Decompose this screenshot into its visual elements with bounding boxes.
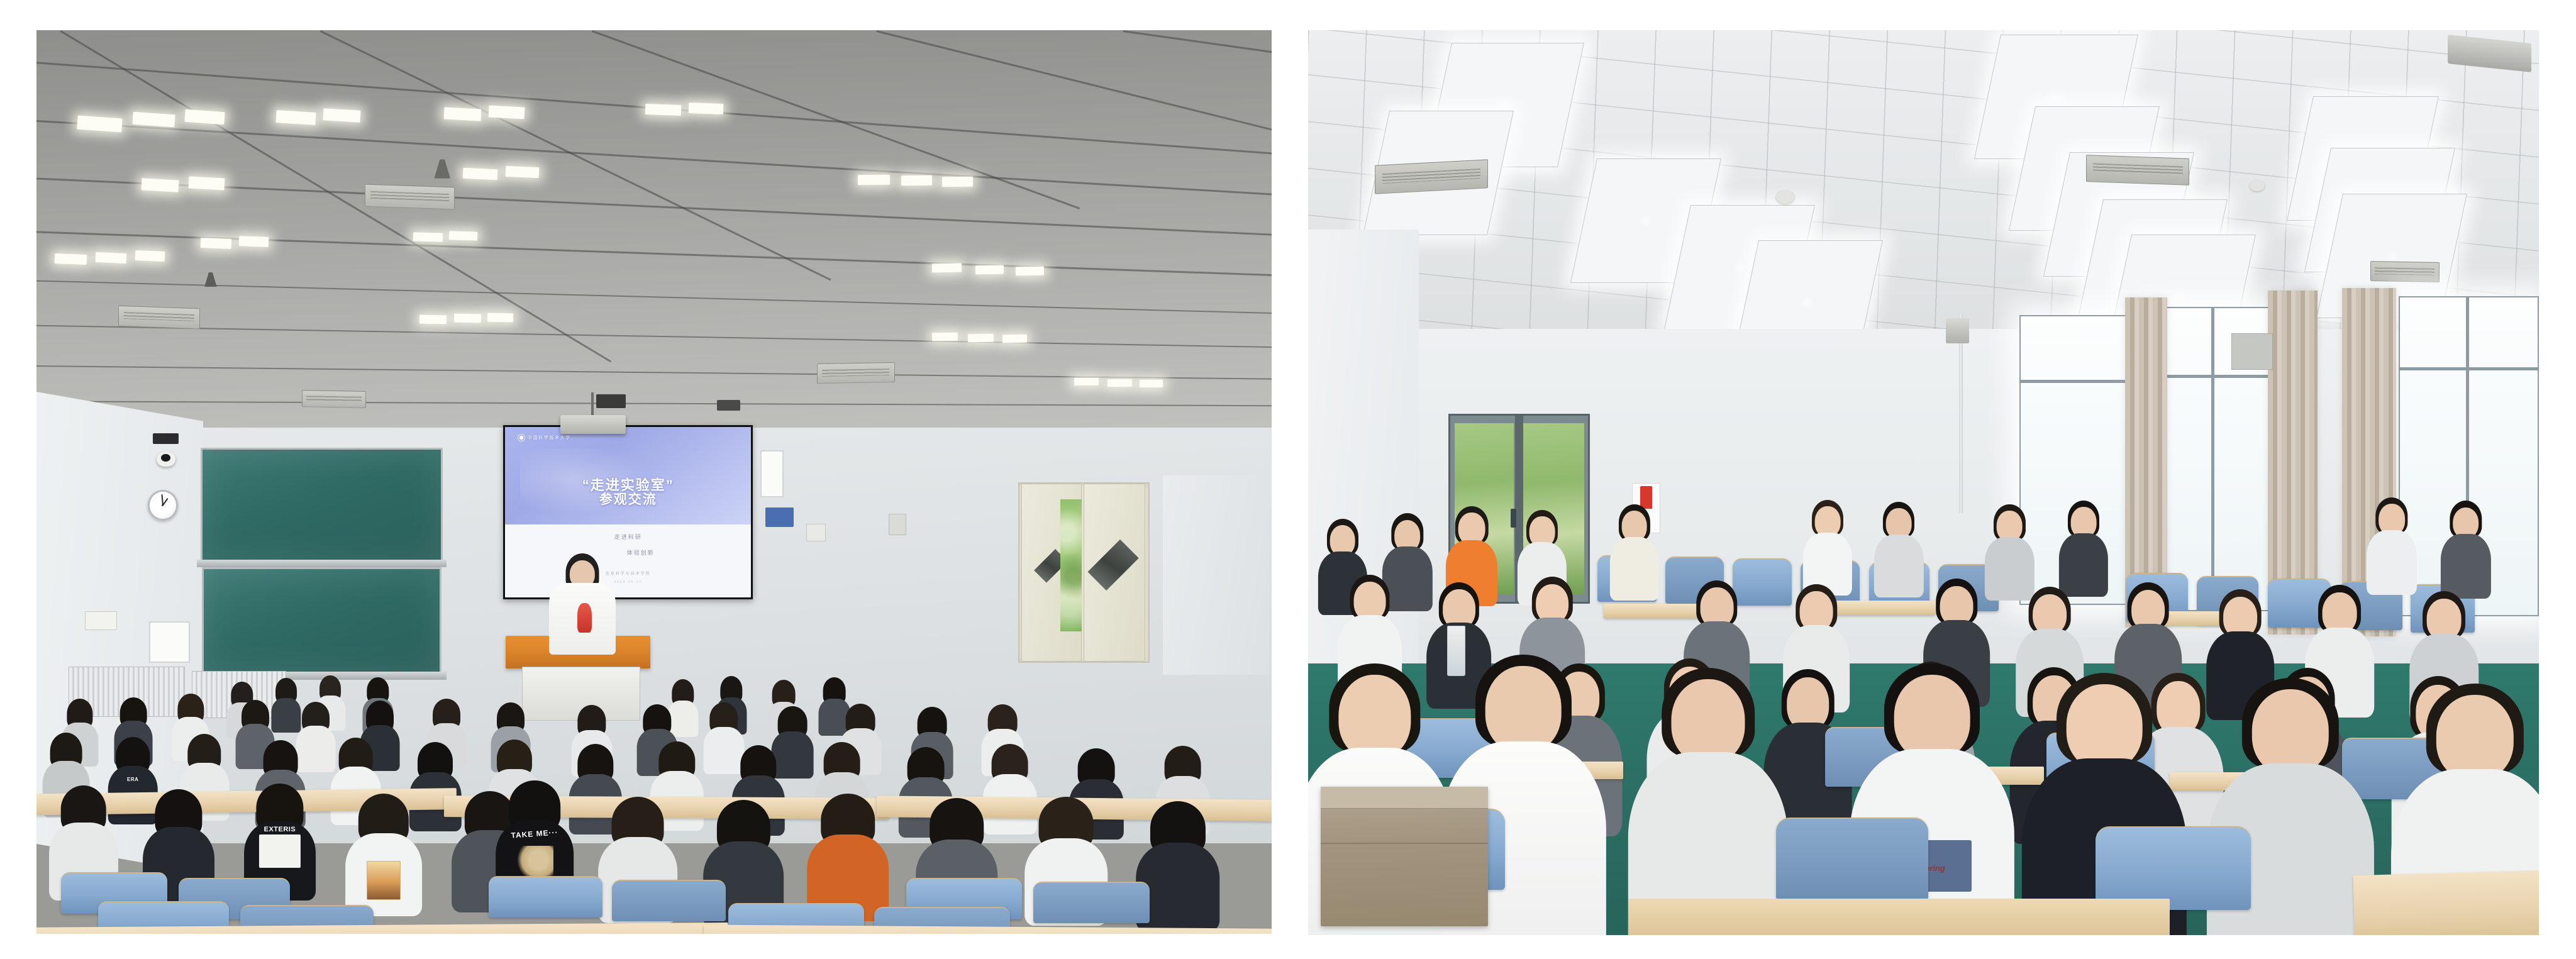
wall-conduit-pipe (1959, 314, 1963, 514)
ceiling-light (413, 232, 443, 242)
ceiling-light (239, 236, 269, 247)
box-seam (1321, 843, 1488, 844)
university-crest-icon (518, 434, 525, 441)
ceiling-light (506, 166, 540, 179)
presenter-shirt-graphic (577, 603, 592, 633)
ceiling-light (449, 231, 478, 241)
projection-screen: 中国科学技术大学 “走进实验室” 参观交流 走进科研 体验创新 信息科学与技术学… (503, 425, 753, 599)
shirt-print-panel (367, 861, 401, 901)
ceiling-ac-vent (817, 362, 895, 384)
ceiling-light (1074, 378, 1099, 386)
ceiling-ac-vent (2086, 155, 2189, 186)
ceiling-light (184, 109, 225, 125)
ceiling-light (645, 104, 682, 116)
slide-footer-line-2: 2024.06.27 (505, 580, 751, 584)
box-flap (1321, 787, 1488, 809)
slide-logo-row: 中国科学技术大学 (518, 434, 571, 441)
ceiling-light (487, 313, 513, 321)
ceiling-light (201, 238, 232, 249)
wall-mounted-panel (2231, 333, 2273, 370)
projector-cable-block (596, 394, 626, 408)
slide-header-band (505, 427, 751, 524)
photo-collage-stage: 中国科学技术大学 “走进实验室” 参观交流 走进科研 体验创新 信息科学与技术学… (0, 0, 2576, 959)
audience-person (1874, 502, 1923, 592)
clock-center-pin (162, 504, 164, 506)
ceiling-light (858, 175, 890, 185)
audience-person (1985, 504, 2034, 595)
smoke-detector-icon (1776, 191, 1794, 204)
window-mullion-horizontal (2154, 375, 2280, 378)
slide-organization-text: 中国科学技术大学 (528, 435, 571, 441)
lecture-chair (2096, 826, 2251, 909)
ceiling-ac-vent (302, 390, 366, 408)
audience-person (1609, 504, 1658, 595)
person-head (1485, 666, 1562, 753)
ceiling-light (135, 250, 165, 262)
window-mullion-horizontal (2400, 367, 2538, 370)
person-torso (1874, 535, 1923, 598)
wall-clock (148, 490, 178, 520)
ceiling-light (942, 177, 973, 187)
ceiling-light (55, 253, 87, 265)
ceiling-equipment-box (717, 400, 740, 411)
ceiling-light (96, 252, 127, 263)
ceiling-ac-vent (365, 184, 455, 210)
slide-subtitle-line-1: 走进科研 (505, 533, 751, 541)
ceiling-light (444, 107, 482, 121)
photo-left-lecture-hall-front-view: 中国科学技术大学 “走进实验室” 参观交流 走进科研 体验创新 信息科学与技术学… (36, 30, 1272, 934)
ceiling-light (1002, 335, 1027, 343)
audience-person (2367, 497, 2417, 590)
ceiling-light (932, 263, 962, 272)
ceiling-light (901, 175, 932, 186)
audience-person (1803, 500, 1852, 590)
wall-outlet-plate (806, 524, 826, 542)
slide-title-line-1: “走进实验室” (505, 478, 751, 493)
window-mullion-vertical (2211, 308, 2214, 610)
slide-footer-line-1: 信息科学与技术学院 (505, 570, 751, 576)
wall-paper-notice (149, 621, 190, 663)
photo-right-lecture-hall-audience-view: Spring (1308, 30, 2539, 935)
light-switch-plate (85, 611, 117, 630)
slide-subtitle-line-2: 体验创新 (505, 548, 751, 557)
projected-slide: 中国科学技术大学 “走进实验室” 参观交流 走进科研 体验创新 信息科学与技术学… (505, 427, 751, 597)
chalkboard-rail (197, 560, 447, 567)
ceiling-light (689, 103, 724, 114)
foreground-desk (1628, 899, 2170, 935)
shirt-print-text: EXTERIS (264, 826, 296, 833)
chalkboard-lower-panel (202, 567, 441, 675)
shirt-print-panel (259, 834, 301, 868)
ceiling-light (419, 314, 447, 323)
person-torso (2440, 534, 2490, 599)
classroom-double-door (1018, 482, 1149, 663)
window-mullion-horizontal (2021, 380, 2136, 383)
wall-control-panel (889, 514, 906, 535)
lecture-chair (612, 880, 726, 921)
ceiling-light (462, 168, 497, 180)
cardboard-box (1321, 787, 1488, 926)
wall-speaker (1946, 318, 1969, 343)
wall-right-of-door (1163, 475, 1269, 674)
person-head (1894, 675, 1970, 760)
audience-person (808, 794, 889, 914)
presenter (549, 553, 616, 653)
ceiling-light (1016, 267, 1044, 276)
ceiling-light (975, 265, 1004, 274)
camera-mount-bracket (153, 433, 179, 444)
ceiling-ac-vent (2370, 261, 2440, 282)
person-head (1338, 675, 1411, 759)
audience-person (2059, 501, 2108, 591)
door-leaf-right (1084, 484, 1145, 662)
ceiling-light (141, 178, 179, 192)
person-torso (1609, 537, 1658, 601)
ceiling-light (488, 105, 525, 119)
ceiling-light (1140, 380, 1163, 388)
ceiling-ac-vent (1375, 159, 1488, 194)
door-handle (1511, 509, 1516, 528)
security-camera-icon (157, 452, 175, 467)
audience-person (2440, 501, 2490, 593)
person-torso (2367, 530, 2417, 595)
shirt-print-text: ERA (127, 777, 138, 782)
person-head (2436, 695, 2513, 780)
slide-title-block: “走进实验室” 参观交流 (505, 478, 751, 507)
ceiling-ac-vent (118, 305, 200, 329)
smoke-detector-icon (2250, 180, 2264, 191)
person-head (1672, 679, 1745, 763)
wall-notice-board (760, 450, 784, 497)
clock-minute-hand (162, 494, 164, 506)
ceiling-light (968, 334, 994, 342)
ceiling-light (932, 333, 958, 341)
ceiling-projector (560, 415, 626, 434)
ceiling-light (1108, 379, 1132, 387)
audience-person (1628, 668, 1788, 935)
ceiling-light (188, 177, 225, 191)
foreground-desk (2353, 868, 2539, 935)
lecture-chair (1033, 882, 1150, 923)
chalkboard-upper-panel (201, 448, 443, 564)
door-diamond-window-right (1088, 540, 1140, 591)
lecture-chair (489, 876, 602, 917)
open-door-gap-foliage (1060, 499, 1082, 631)
ceiling-light (454, 314, 481, 323)
person-head (2251, 689, 2328, 775)
audience-person (345, 794, 422, 909)
lecture-chair (1776, 818, 1929, 901)
slide-title-line-2: 参观交流 (505, 493, 751, 507)
person-head (2067, 684, 2143, 770)
wall-sign-blue (765, 507, 794, 528)
